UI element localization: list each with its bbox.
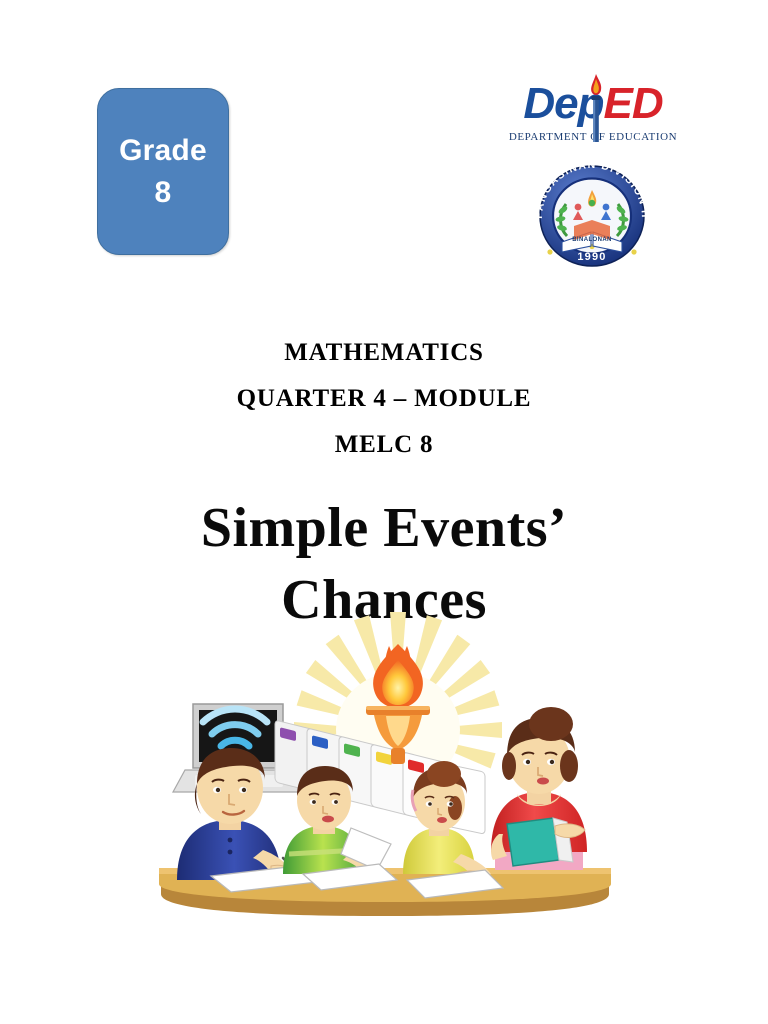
deped-torch-icon	[585, 72, 607, 144]
division-seal: PANGASINAN DIVISION II 1990 BINALONAN	[522, 160, 662, 270]
deped-wordmark: DepED	[503, 78, 683, 130]
cover-illustration	[155, 612, 615, 930]
seal-book-text: BINALONAN	[572, 237, 612, 243]
title-block: MATHEMATICS QUARTER 4 – MODULE MELC 8	[0, 330, 768, 468]
grade-badge-number: 8	[155, 172, 172, 214]
seal-year: 1990	[577, 251, 606, 263]
subject-title: MATHEMATICS	[0, 330, 768, 376]
main-title-line-1: Simple Events’	[0, 492, 768, 564]
melc-title: MELC 8	[0, 422, 768, 468]
book-icon	[507, 818, 559, 866]
grade-badge-label: Grade	[119, 130, 207, 172]
deped-wordmark-ed: ED	[604, 79, 663, 128]
grade-badge: Grade 8	[97, 88, 229, 255]
teacher-red-shirt	[491, 707, 587, 870]
quarter-module-title: QUARTER 4 – MODULE	[0, 376, 768, 422]
deped-logo: DepED DEPARTMENT OF EDUCATION	[503, 78, 683, 158]
